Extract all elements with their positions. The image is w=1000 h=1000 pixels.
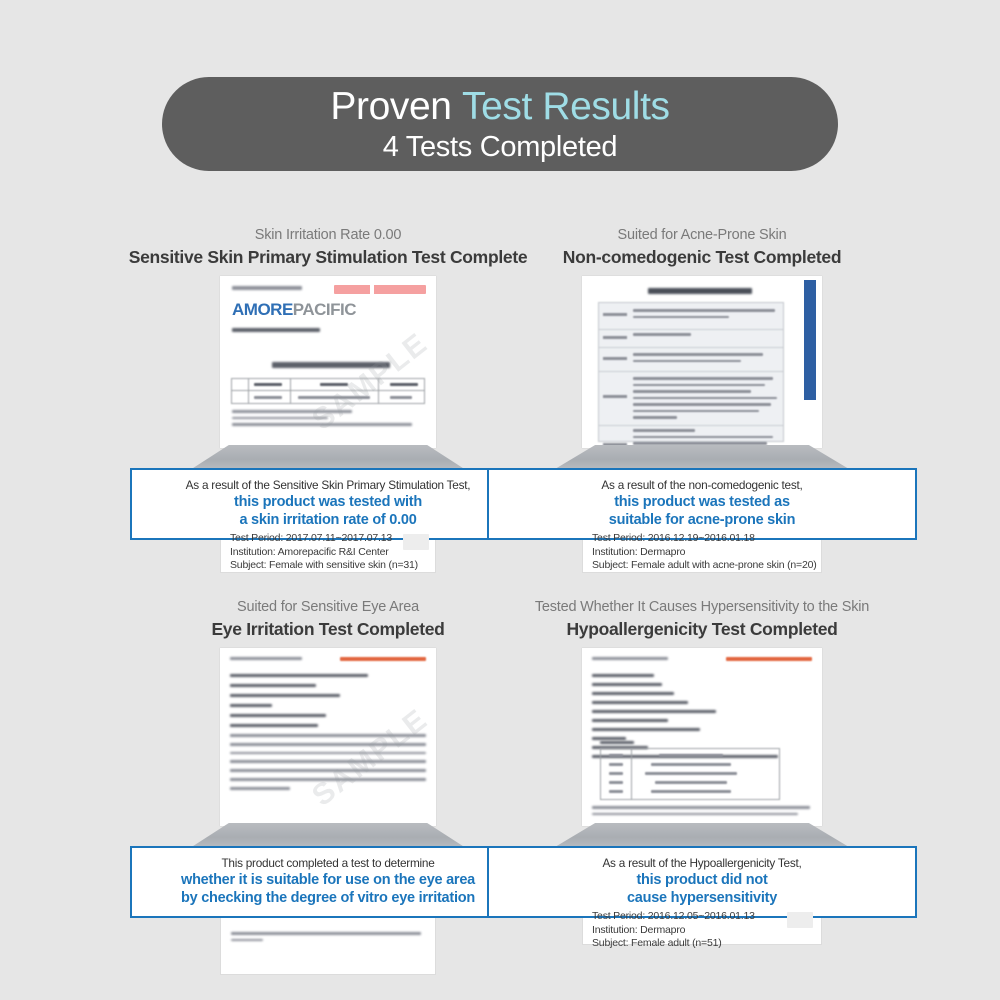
header-banner: Proven Test Results 4 Tests Completed: [162, 77, 838, 171]
card-title: Hypoallergenicity Test Completed: [487, 617, 917, 642]
result-callout: As a result of the Sensitive Skin Primar…: [130, 468, 526, 540]
document-stage: As a result of the Hypoallergenicity Tes…: [487, 648, 917, 948]
meta-stamp: [787, 912, 813, 928]
meta-institution: Institution: Dermapro: [592, 924, 755, 938]
certificate-image-eye-irritation: SAMPLE: [220, 648, 436, 826]
card-title: Non-comedogenic Test Completed: [487, 245, 917, 270]
meta-institution: Institution: Amorepacific R&I Center: [230, 546, 418, 560]
callout-lead: As a result of the Sensitive Skin Primar…: [138, 478, 518, 493]
test-card-eye-irritation: Suited for Sensitive Eye Area Eye Irrita…: [113, 598, 543, 948]
result-callout: As a result of the Hypoallergenicity Tes…: [487, 846, 917, 918]
meta-institution: Institution: Dermapro: [592, 546, 817, 560]
meta-test-period: Test Period: 2016.12.19~2016.01.18: [592, 532, 817, 546]
report-table: [598, 302, 784, 442]
callout-highlight-2: a skin irritation rate of 0.00: [138, 511, 518, 529]
certificate-image-hypoallergenicity: [582, 648, 822, 826]
document-stage: AMOREPACIFIC: [113, 276, 543, 576]
result-callout: As a result of the non-comedogenic test,…: [487, 468, 917, 540]
letterhead-red-bar: [334, 285, 426, 294]
meta-test-period: Test Period: 2016.12.05~2016.01.13: [592, 910, 755, 924]
header-title-accent: Test Results: [462, 85, 670, 128]
meta-stamp: [403, 534, 429, 550]
document-heading-line: [272, 362, 390, 368]
report-title-line: [648, 288, 752, 294]
document-table: [231, 378, 425, 404]
test-card-non-comedogenic: Suited for Acne-Prone Skin Non-comedogen…: [487, 226, 917, 576]
header-subtitle: 4 Tests Completed: [383, 131, 618, 164]
document-note-lines: [232, 410, 418, 430]
document-number-line: [232, 328, 320, 336]
callout-lead: As a result of the non-comedogenic test,: [495, 478, 909, 493]
document-subheading: [600, 741, 634, 748]
page-root: Proven Test Results 4 Tests Completed Sk…: [0, 0, 1000, 1000]
callout-highlight-1: this product was tested as: [495, 493, 909, 511]
card-subtitle: Skin Irritation Rate 0.00: [113, 226, 543, 245]
card-title: Sensitive Skin Primary Stimulation Test …: [113, 245, 543, 270]
callout-highlight-1: this product did not: [495, 871, 909, 889]
callout-highlight-1: this product was tested with: [138, 493, 518, 511]
document-confidential-stamp: [340, 657, 426, 661]
card-subtitle: Suited for Sensitive Eye Area: [113, 598, 543, 617]
card-meta: Test Period: 2016.12.05~2016.01.13 Insti…: [592, 910, 755, 951]
document-paragraph-lines: [230, 734, 424, 794]
certificate-image-dermapro-report: [582, 276, 822, 448]
test-card-hypoallergenicity: Tested Whether It Causes Hypersensitivit…: [487, 598, 917, 948]
report-side-bar: [804, 280, 816, 400]
card-meta: Test Period: 2016.12.19~2016.01.18 Insti…: [592, 532, 817, 573]
document-number-line: [592, 657, 672, 664]
callout-lead: This product completed a test to determi…: [138, 856, 518, 871]
letterhead-tagline-icon: [232, 286, 310, 294]
document-footnote-lines: [592, 806, 810, 819]
card-title: Eye Irritation Test Completed: [113, 617, 543, 642]
document-table: [600, 748, 780, 800]
card-subtitle: Tested Whether It Causes Hypersensitivit…: [487, 598, 917, 617]
header-title: Proven Test Results: [330, 85, 669, 129]
amorepacific-logo: AMOREPACIFIC: [232, 300, 356, 320]
document-confidential-stamp: [726, 657, 812, 661]
meta-test-period: Test Period: 2017.07.11~2017.07.13: [230, 532, 418, 546]
callout-highlight-2: cause hypersensitivity: [495, 889, 909, 907]
card-subtitle: Suited for Acne-Prone Skin: [487, 226, 917, 245]
document-stage: As a result of the non-comedogenic test,…: [487, 276, 917, 576]
document-stage: SAMPLE This product completed a test to …: [113, 648, 543, 948]
callout-lead: As a result of the Hypoallergenicity Tes…: [495, 856, 909, 871]
document-number-line: [230, 657, 310, 664]
callout-highlight-2: suitable for acne-prone skin: [495, 511, 909, 529]
callout-highlight-2: by checking the degree of vitro eye irri…: [138, 889, 518, 907]
test-card-sensitive-skin: Skin Irritation Rate 0.00 Sensitive Skin…: [113, 226, 543, 576]
meta-subject: Subject: Female with sensitive skin (n=3…: [230, 559, 418, 573]
header-title-plain: Proven: [330, 85, 451, 128]
callout-highlight-1: whether it is suitable for use on the ey…: [138, 871, 518, 889]
meta-subject: Subject: Female adult (n=51): [592, 937, 755, 951]
document-field-lines: [230, 674, 418, 731]
certificate-image-amorepacific: AMOREPACIFIC: [220, 276, 436, 448]
result-callout: This product completed a test to determi…: [130, 846, 526, 918]
card-meta: Test Period: 2017.07.11~2017.07.13 Insti…: [230, 532, 418, 573]
meta-subject: Subject: Female adult with acne-prone sk…: [592, 559, 817, 573]
